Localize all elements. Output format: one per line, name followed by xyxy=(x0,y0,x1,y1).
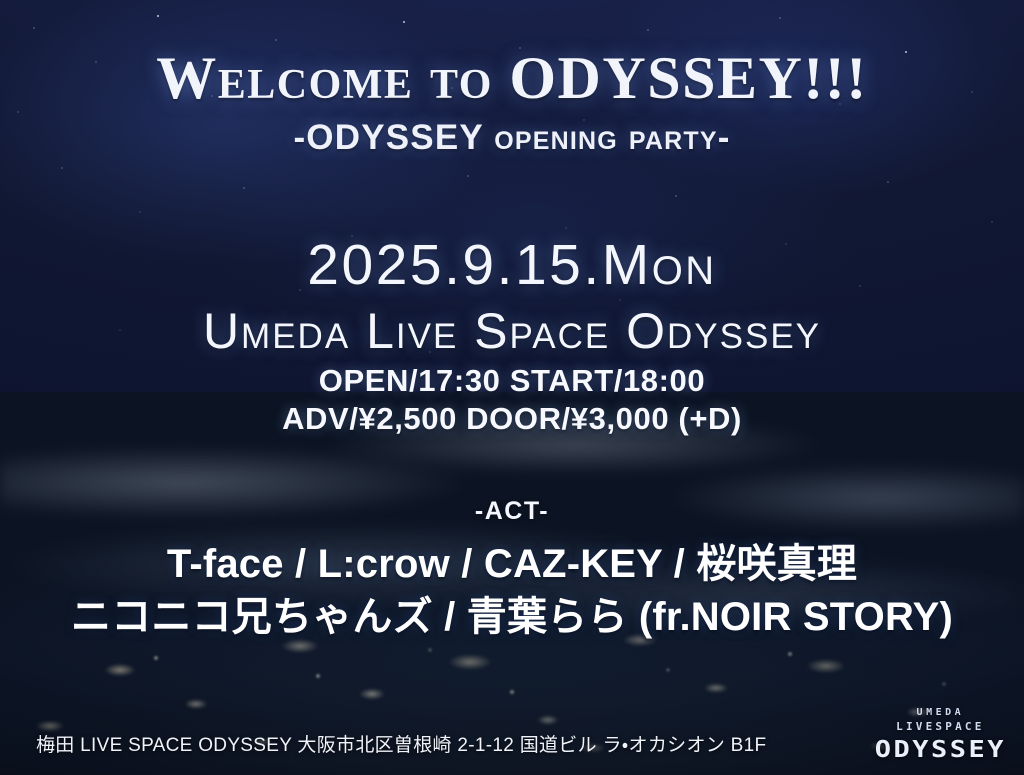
door-times: OPEN/17:30 START/18:00 xyxy=(0,362,1024,400)
act-heading: -ACT- xyxy=(0,497,1024,526)
ticket-info-block: OPEN/17:30 START/18:00 ADV/¥2,500 DOOR/¥… xyxy=(0,362,1024,438)
lineup-row-2: ニコニコ兄ちゃんズ / 青葉らら (fr.NOIR STORY) xyxy=(0,591,1024,644)
headline-block: Welcome to ODYSSEY!!! -ODYSSEY opening p… xyxy=(0,47,1024,158)
event-date: 2025.9.15.Mon xyxy=(0,232,1024,298)
ticket-prices: ADV/¥2,500 DOOR/¥3,000 (+D) xyxy=(0,400,1024,438)
logo-text-odyssey: ODYSSEY xyxy=(875,738,1006,761)
flyer-content: Welcome to ODYSSEY!!! -ODYSSEY opening p… xyxy=(0,0,1024,775)
event-details-block: 2025.9.15.Mon Umeda Live Space Odyssey xyxy=(0,232,1024,360)
logo-text-livespace: LIVESPACE xyxy=(875,721,1006,732)
page-title: Welcome to ODYSSEY!!! xyxy=(0,47,1024,109)
venue-logo: UMEDA LIVESPACE ODYSSEY xyxy=(875,708,1006,763)
event-venue: Umeda Live Space Odyssey xyxy=(0,302,1024,360)
venue-address: 梅田 LIVE SPACE ODYSSEY 大阪市北区曽根崎 2-1-12 国道… xyxy=(36,730,766,757)
lineup-block: -ACT- T-face / L:crow / CAZ-KEY / 桜咲真理 ニ… xyxy=(0,497,1024,644)
lineup-row-1: T-face / L:crow / CAZ-KEY / 桜咲真理 xyxy=(0,538,1024,591)
logo-text-umeda: UMEDA xyxy=(875,708,1006,718)
event-flyer: Welcome to ODYSSEY!!! -ODYSSEY opening p… xyxy=(0,0,1024,775)
page-subtitle: -ODYSSEY opening party- xyxy=(0,118,1024,158)
